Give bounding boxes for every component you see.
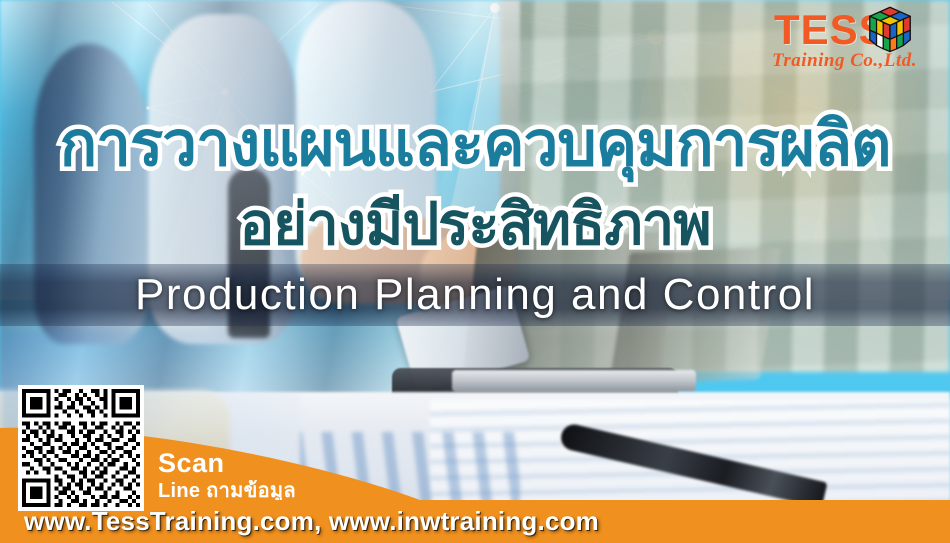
brand-logo[interactable]: TESS	[764, 2, 944, 86]
photo-laptop-base	[452, 370, 696, 392]
scan-label: Scan	[158, 450, 398, 477]
brand-tagline: Training Co.,Ltd.	[772, 50, 917, 72]
qr-code[interactable]	[18, 385, 144, 511]
course-banner: การวางแผนและควบคุมการผลิต อย่างมีประสิทธ…	[0, 0, 950, 543]
qr-code-image	[22, 389, 140, 507]
subtitle-band	[0, 264, 950, 326]
scan-badge: Scan Line ถามข้อมูล	[158, 450, 398, 506]
